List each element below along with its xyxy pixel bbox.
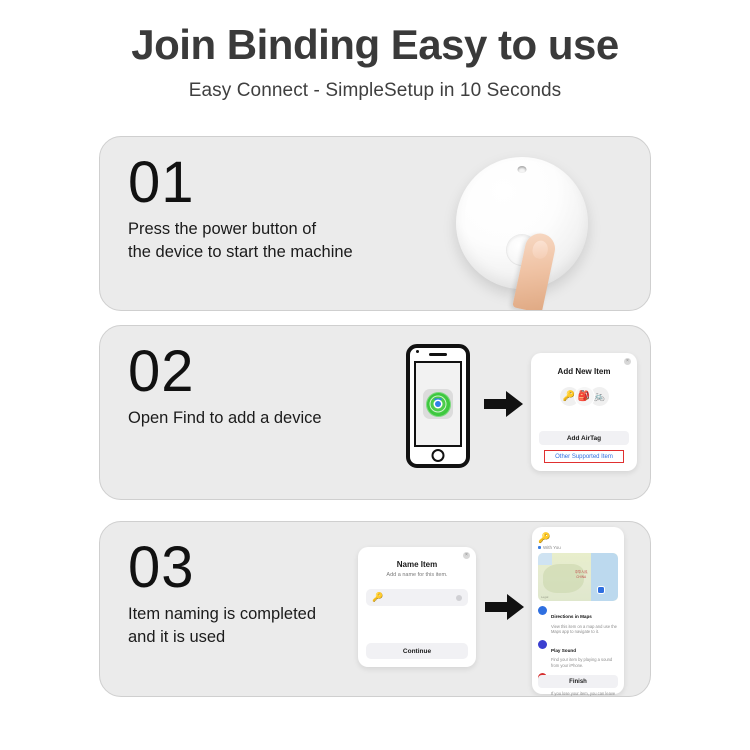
- name-item-title: Name Item: [366, 560, 468, 569]
- action-description: View this item on a map and use the Maps…: [551, 624, 618, 635]
- location-dot-icon: [435, 401, 441, 407]
- map-view[interactable]: 中华人民 CHINA Legal: [538, 553, 618, 601]
- other-supported-item-highlight: Other Supported Item: [544, 450, 624, 463]
- tracker-device-illustration: [444, 149, 604, 309]
- key-icon: 🔑: [538, 533, 618, 544]
- map-water-east: [591, 553, 618, 601]
- home-button[interactable]: [432, 449, 445, 462]
- item-name-input[interactable]: 🔑: [366, 589, 468, 606]
- close-icon[interactable]: ×: [624, 358, 631, 365]
- fingernail: [531, 239, 549, 260]
- add-new-item-dialog: × Add New Item 🔑 🎒 🚲 Add AirTag Other Su…: [531, 353, 637, 471]
- action-description: If you lose your item, you can leave a m…: [551, 691, 618, 697]
- finish-button[interactable]: Finish: [538, 675, 618, 688]
- key-icon: 🔑: [372, 592, 383, 603]
- close-icon[interactable]: ×: [463, 552, 470, 559]
- right-arrow-icon: [484, 389, 524, 419]
- add-item-title: Add New Item: [539, 367, 629, 376]
- radar-graphic: [426, 392, 451, 417]
- step-card-3: 03 Item naming is completed and it is us…: [99, 521, 651, 697]
- continue-button[interactable]: Continue: [366, 643, 468, 659]
- status-label: With You: [543, 545, 561, 550]
- list-item[interactable]: Play Sound Find your item by playing a s…: [538, 639, 618, 669]
- name-item-dialog: × Name Item Add a name for this item. 🔑 …: [358, 547, 476, 667]
- step-1-number: 01: [128, 155, 458, 210]
- directions-icon: [538, 606, 547, 615]
- map-water-northwest: [538, 553, 552, 565]
- tracker-keyhole-icon: [518, 166, 527, 173]
- clear-icon[interactable]: [456, 595, 462, 601]
- phone-screen: [414, 361, 462, 447]
- add-airtag-button[interactable]: Add AirTag: [539, 431, 629, 445]
- play-sound-icon: [538, 640, 547, 649]
- page-title: Join Binding Easy to use: [0, 22, 750, 68]
- item-detail-panel: 🔑 With You 中华人民 CHINA Legal Directions i…: [532, 527, 624, 694]
- status-dot-icon: [538, 546, 541, 549]
- iphone-illustration: [406, 344, 470, 468]
- earpiece-speaker: [429, 353, 447, 356]
- find-my-app-icon[interactable]: [423, 389, 453, 419]
- page-subtitle: Easy Connect - SimpleSetup in 10 Seconds: [0, 80, 750, 102]
- name-item-subtitle: Add a name for this item.: [366, 572, 468, 578]
- status-badge: With You: [538, 545, 618, 550]
- map-region-label: 中华人民 CHINA: [575, 570, 588, 580]
- step-card-1: 01 Press the power button of the device …: [99, 136, 651, 311]
- action-title: Play Sound: [551, 648, 576, 653]
- step-1-text-block: 01 Press the power button of the device …: [128, 155, 458, 264]
- front-camera-icon: [416, 350, 419, 353]
- list-item[interactable]: Directions in Maps View this item on a m…: [538, 605, 618, 635]
- right-arrow-icon: [485, 592, 525, 622]
- item-type-badges: 🔑 🎒 🚲: [539, 387, 629, 406]
- map-location-marker-icon[interactable]: [598, 587, 604, 593]
- action-title: Directions in Maps: [551, 614, 592, 619]
- action-description: Find your item by playing a sound from y…: [551, 657, 618, 668]
- page-header: Join Binding Easy to use Easy Connect - …: [0, 22, 750, 102]
- step-card-2: 02 Open Find to add a device × Add New I…: [99, 325, 651, 500]
- map-attribution: Legal: [541, 595, 548, 599]
- other-supported-item-link[interactable]: Other Supported Item: [555, 454, 613, 460]
- detail-header: 🔑 With You: [538, 533, 618, 550]
- step-1-description: Press the power button of the device to …: [128, 218, 458, 264]
- backpack-icon: 🎒: [575, 387, 594, 406]
